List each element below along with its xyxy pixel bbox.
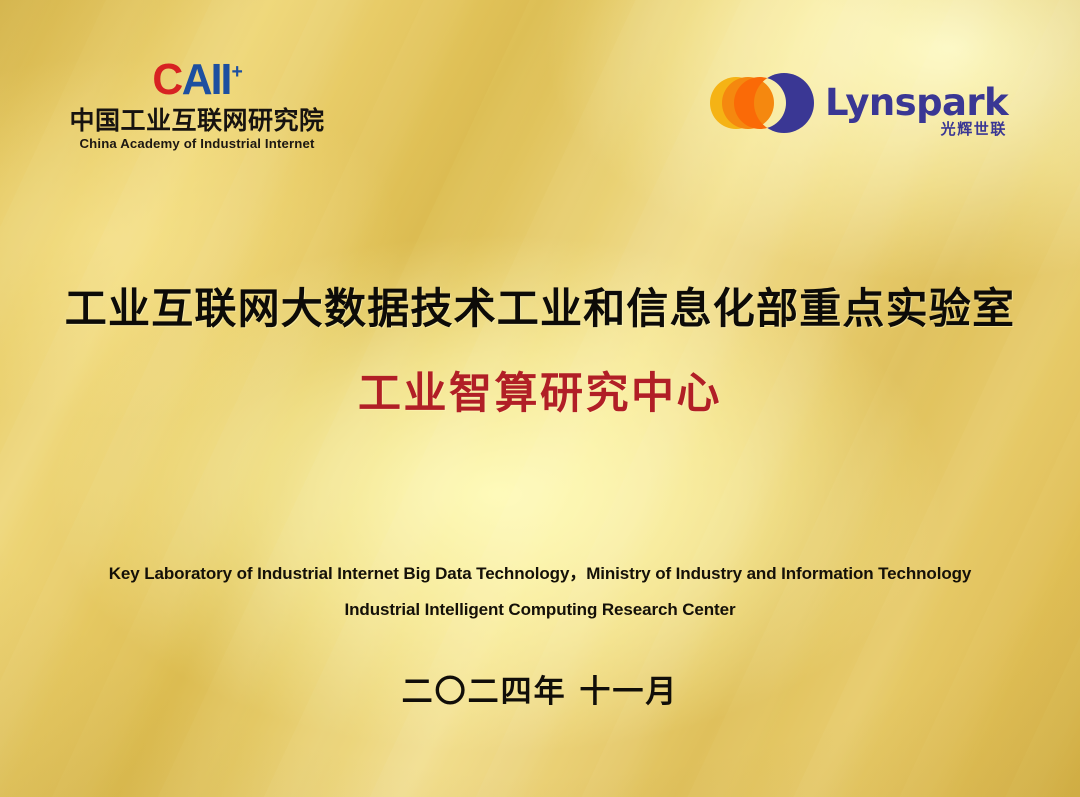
- date-block: 二〇二四年 十一月: [0, 672, 1080, 712]
- caii-letters-aii: AII: [182, 55, 231, 104]
- lynspark-circles-icon: [710, 66, 814, 140]
- presentation-cover-slide: CAII+ 中国工业互联网研究院 China Academy of Indust…: [0, 0, 1080, 797]
- lynspark-wordmark: Lynspark: [825, 84, 1008, 122]
- caii-plus-icon: +: [232, 61, 242, 83]
- title-block: 工业互联网大数据技术工业和信息化部重点实验室 工业智算研究中心: [0, 283, 1080, 421]
- english-subtitle-line-1: Key Laboratory of Industrial Internet Bi…: [0, 556, 1080, 592]
- caii-wordmark: CAII+: [153, 58, 242, 102]
- page-subtitle: 工业智算研究中心: [0, 367, 1080, 421]
- english-subtitle-block: Key Laboratory of Industrial Internet Bi…: [0, 556, 1080, 628]
- caii-name-english: China Academy of Industrial Internet: [66, 136, 328, 151]
- caii-logo: CAII+ 中国工业互联网研究院 China Academy of Indust…: [66, 58, 328, 151]
- caii-name-chinese: 中国工业互联网研究院: [66, 107, 328, 135]
- lynspark-name-chinese: 光辉世联: [941, 118, 1007, 139]
- lynspark-logo: Lynspark 光辉世联: [710, 66, 1008, 140]
- lynspark-text-group: Lynspark 光辉世联: [825, 84, 1008, 122]
- date-text: 二〇二四年 十一月: [0, 672, 1080, 712]
- page-title: 工业互联网大数据技术工业和信息化部重点实验室: [0, 283, 1080, 335]
- caii-letter-c: C: [153, 55, 182, 104]
- english-subtitle-line-2: Industrial Intelligent Computing Researc…: [0, 592, 1080, 628]
